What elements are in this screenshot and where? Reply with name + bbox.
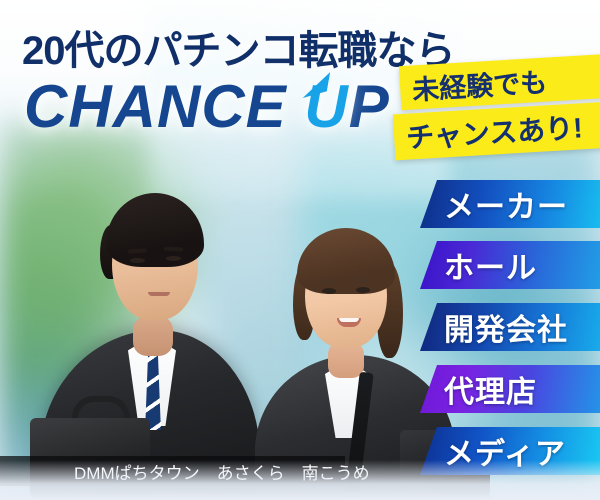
headline-line-1: 20代のパチンコ転職なら [22,18,455,76]
woman-eye-left [322,288,336,294]
headline-line-2: CHANCE UP [24,72,390,141]
badge-line-1: 未経験でも [399,60,548,108]
headline-chance-text: CHANCE [24,73,304,140]
badge-line-2: チャンスあり! [393,106,584,157]
category-label-agency: 代理店 [444,367,537,411]
category-bar-maker[interactable]: メーカー [420,180,600,228]
woman-eye-right [356,287,370,293]
category-label-hall: ホール [444,243,537,287]
man-eye-left [130,258,145,263]
category-label-developer: 開発会社 [444,305,568,349]
category-bar-hall[interactable]: ホール [420,241,600,289]
woman-eyebrow-right [354,278,372,283]
banner-ad[interactable]: 20代のパチンコ転職なら CHANCE UP 未経験でも チャンスあり! メーカ… [0,0,600,500]
man-neck [133,316,173,356]
category-bar-agency[interactable]: 代理店 [420,365,600,413]
woman-teeth [339,318,359,322]
headline-p-letter: P [349,73,390,140]
man-mouth [148,292,170,296]
category-bar-developer[interactable]: 開発会社 [420,303,600,351]
category-label-maker: メーカー [444,182,568,226]
bottom-fade-overlay [0,460,600,500]
man-eye-right [166,256,181,261]
